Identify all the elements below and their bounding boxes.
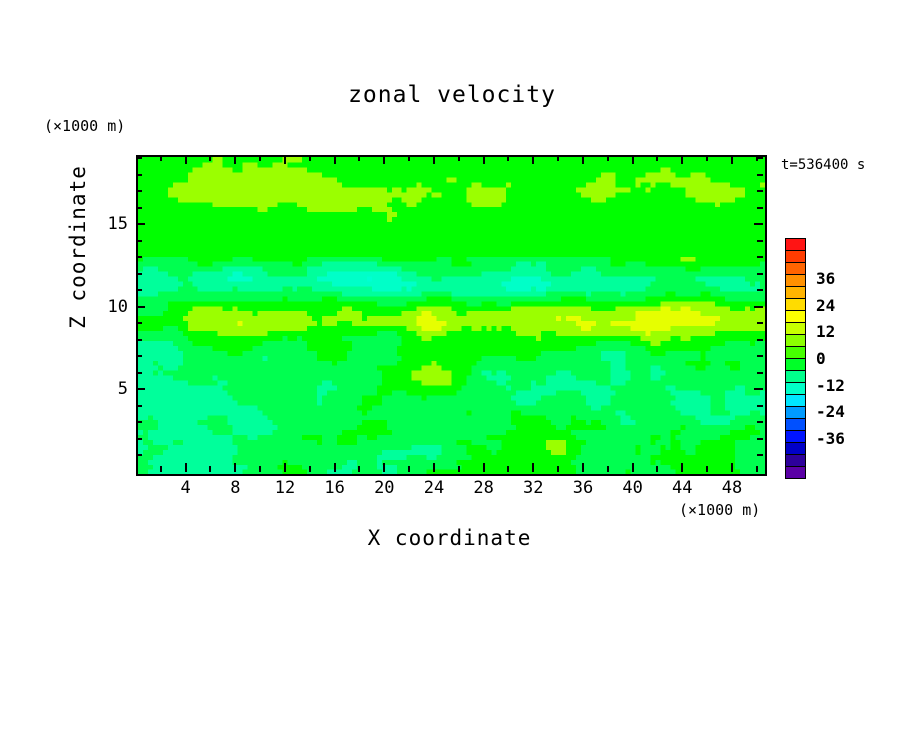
x-tick-mark xyxy=(259,466,261,472)
y-tick-mark-right xyxy=(754,306,763,308)
y-tick-mark xyxy=(136,322,142,324)
x-tick-mark-top xyxy=(483,155,485,164)
x-tick-mark xyxy=(209,466,211,472)
x-axis-title: X coordinate xyxy=(136,526,763,550)
velocity-field-image xyxy=(138,157,765,474)
x-tick-label: 44 xyxy=(662,478,702,498)
x-tick-label: 48 xyxy=(712,478,752,498)
x-axis-unit-label: (×1000 m) xyxy=(679,501,760,519)
y-axis-title: Z coordinate xyxy=(66,137,90,357)
y-tick-mark xyxy=(136,256,142,258)
y-tick-mark-right xyxy=(757,174,763,176)
y-tick-mark xyxy=(136,240,142,242)
colorbar-tick-label: 36 xyxy=(816,269,835,288)
x-tick-label: 12 xyxy=(265,478,305,498)
y-tick-mark xyxy=(136,421,142,423)
x-tick-mark-top xyxy=(557,155,559,161)
x-tick-label: 20 xyxy=(364,478,404,498)
timestamp-label: t=536400 s xyxy=(781,157,865,173)
y-tick-mark xyxy=(136,306,145,308)
y-tick-mark xyxy=(136,174,142,176)
x-tick-mark xyxy=(433,463,435,472)
x-tick-mark-top xyxy=(284,155,286,164)
x-tick-mark xyxy=(383,463,385,472)
x-tick-mark-top xyxy=(607,155,609,161)
x-tick-mark-top xyxy=(234,155,236,164)
y-axis-unit-label: (×1000 m) xyxy=(44,117,125,135)
colorbar-tick-label: -12 xyxy=(816,376,845,395)
x-tick-mark-top xyxy=(209,155,211,161)
y-tick-mark xyxy=(136,223,145,225)
x-tick-mark-top xyxy=(656,155,658,161)
colorbar-tick-label: -24 xyxy=(816,402,845,421)
x-tick-mark xyxy=(532,463,534,472)
x-tick-label: 40 xyxy=(613,478,653,498)
x-tick-label: 8 xyxy=(215,478,255,498)
x-tick-mark-top xyxy=(681,155,683,164)
colorbar-tick-label: 12 xyxy=(816,322,835,341)
y-tick-mark-right xyxy=(757,289,763,291)
y-tick-mark-right xyxy=(757,405,763,407)
y-tick-mark-right xyxy=(757,256,763,258)
x-tick-mark-top xyxy=(731,155,733,164)
colorbar-tick-label: -36 xyxy=(816,429,845,448)
x-tick-mark xyxy=(756,466,758,472)
x-tick-mark-top xyxy=(259,155,261,161)
x-tick-mark-top xyxy=(507,155,509,161)
x-tick-mark-top xyxy=(532,155,534,164)
x-tick-mark xyxy=(706,466,708,472)
figure-root: zonal velocity (×1000 m) Z coordinate 48… xyxy=(0,0,904,654)
y-tick-mark-right xyxy=(757,322,763,324)
x-tick-label: 28 xyxy=(464,478,504,498)
x-tick-mark-top xyxy=(458,155,460,161)
y-tick-label: 5 xyxy=(96,379,128,399)
x-tick-label: 24 xyxy=(414,478,454,498)
x-tick-mark xyxy=(632,463,634,472)
x-tick-mark-top xyxy=(309,155,311,161)
x-tick-label: 4 xyxy=(166,478,206,498)
x-tick-label: 32 xyxy=(513,478,553,498)
x-tick-mark xyxy=(358,466,360,472)
x-tick-mark-top xyxy=(706,155,708,161)
y-tick-mark xyxy=(136,372,142,374)
colorbar-tick-label: 24 xyxy=(816,296,835,315)
x-tick-mark xyxy=(309,466,311,472)
y-tick-mark-right xyxy=(757,273,763,275)
x-tick-mark-top xyxy=(358,155,360,161)
x-tick-mark xyxy=(557,466,559,472)
y-tick-mark xyxy=(136,355,142,357)
x-tick-mark-top xyxy=(408,155,410,161)
colorbar-swatch xyxy=(785,466,806,479)
y-tick-mark-right xyxy=(757,190,763,192)
y-tick-mark xyxy=(136,388,145,390)
x-tick-mark-top xyxy=(185,155,187,164)
y-tick-label: 15 xyxy=(96,214,128,234)
x-tick-mark xyxy=(160,466,162,472)
y-tick-mark-right xyxy=(757,207,763,209)
y-tick-mark-right xyxy=(754,388,763,390)
y-tick-mark-right xyxy=(757,438,763,440)
y-tick-mark xyxy=(136,339,142,341)
y-tick-mark-right xyxy=(757,240,763,242)
y-tick-mark xyxy=(136,157,142,159)
y-tick-mark-right xyxy=(757,355,763,357)
x-tick-mark xyxy=(234,463,236,472)
y-tick-mark-right xyxy=(757,454,763,456)
y-tick-mark-right xyxy=(757,372,763,374)
x-tick-mark xyxy=(185,463,187,472)
y-tick-mark xyxy=(136,405,142,407)
colorbar-tick-label: 0 xyxy=(816,349,826,368)
x-tick-mark xyxy=(458,466,460,472)
y-tick-mark xyxy=(136,289,142,291)
x-tick-mark-top xyxy=(632,155,634,164)
y-tick-label: 10 xyxy=(96,297,128,317)
x-tick-mark-top xyxy=(160,155,162,161)
x-tick-mark xyxy=(284,463,286,472)
x-tick-mark xyxy=(731,463,733,472)
x-tick-mark-top xyxy=(383,155,385,164)
contour-plot-area xyxy=(136,155,767,476)
x-tick-mark xyxy=(483,463,485,472)
y-tick-mark xyxy=(136,190,142,192)
y-tick-mark-right xyxy=(757,157,763,159)
x-tick-mark-top xyxy=(433,155,435,164)
y-tick-mark xyxy=(136,454,142,456)
x-tick-mark xyxy=(334,463,336,472)
x-tick-label: 16 xyxy=(315,478,355,498)
y-tick-mark xyxy=(136,438,142,440)
x-tick-mark xyxy=(681,463,683,472)
x-tick-mark xyxy=(408,466,410,472)
y-tick-mark-right xyxy=(757,339,763,341)
y-tick-mark-right xyxy=(757,421,763,423)
x-tick-mark-top xyxy=(582,155,584,164)
y-tick-mark-right xyxy=(754,223,763,225)
x-tick-mark-top xyxy=(334,155,336,164)
x-tick-mark xyxy=(607,466,609,472)
x-tick-label: 36 xyxy=(563,478,603,498)
y-tick-mark xyxy=(136,207,142,209)
x-tick-mark xyxy=(656,466,658,472)
x-tick-mark xyxy=(582,463,584,472)
y-tick-mark xyxy=(136,273,142,275)
x-tick-mark xyxy=(507,466,509,472)
page-title: zonal velocity xyxy=(0,82,904,108)
